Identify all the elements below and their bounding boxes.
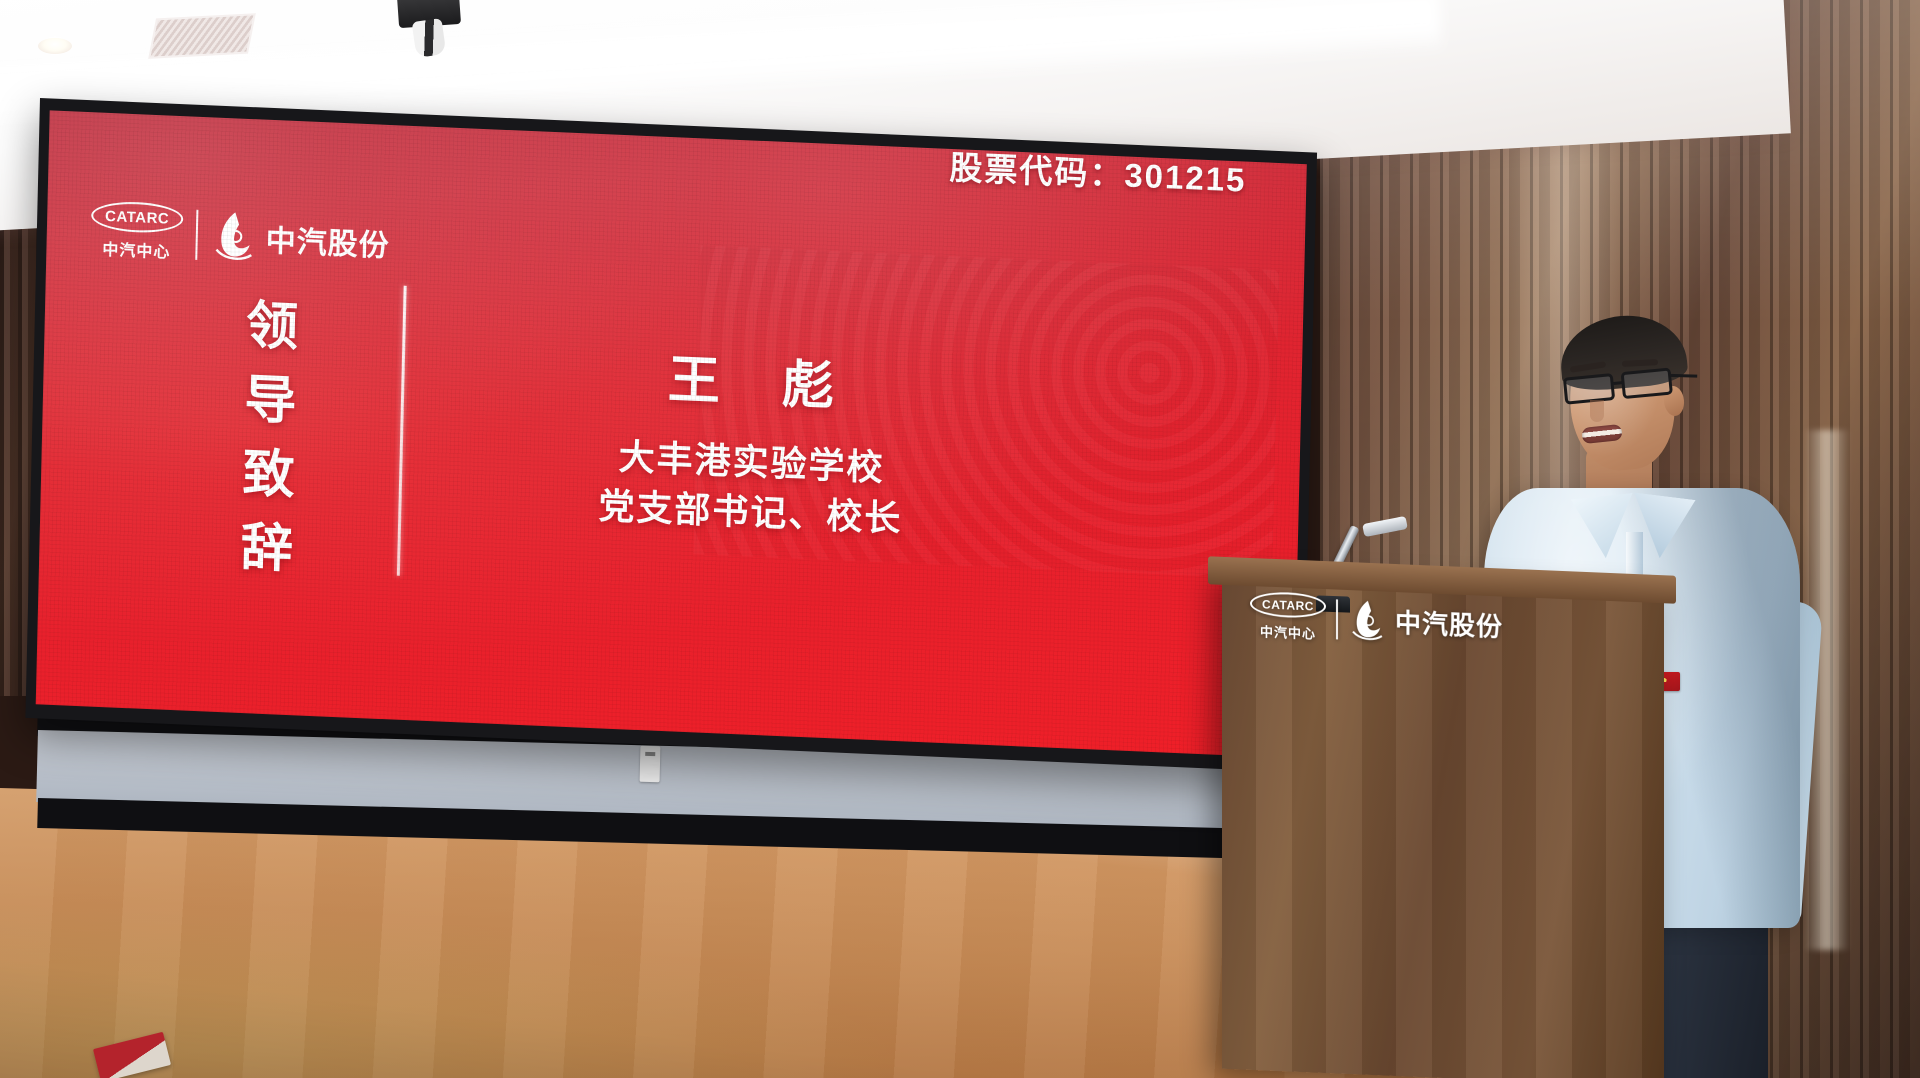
recessed-downlight (38, 38, 72, 54)
catarc-center-mark: CATARC 中汽中心 (90, 200, 183, 263)
screen-surface: 股票代码：301215 CATARC 中汽中心 中汽股份 (36, 110, 1307, 758)
photo-scene: 股票代码：301215 CATARC 中汽中心 中汽股份 (0, 0, 1920, 1078)
slide-brand-lockup: CATARC 中汽中心 中汽股份 (90, 200, 390, 272)
catarc-swoosh-icon (210, 209, 257, 263)
lens-right (1621, 367, 1673, 399)
catarc-wordmark-icon: CATARC (91, 200, 184, 234)
speaker-name: 王 彪 (473, 329, 1034, 428)
ceiling-camera-head (412, 18, 447, 58)
podium-company-name-label: 中汽股份 (1395, 603, 1503, 644)
slide-vertical-rule (397, 286, 407, 576)
podium-catarc-center-mark: CATARC 中汽中心 (1250, 591, 1326, 643)
podium-catarc-chinese-name: 中汽中心 (1260, 621, 1316, 642)
speaker-info-block: 王 彪 大丰港实验学校 党支部书记、校长 (470, 329, 1034, 549)
podium-brand-divider (1336, 599, 1338, 639)
air-vent (148, 13, 256, 59)
brand-divider (195, 209, 198, 259)
power-outlet (640, 746, 661, 782)
company-brand-mark: 中汽股份 (210, 209, 390, 269)
catarc-chinese-name: 中汽中心 (102, 236, 171, 263)
podium-catarc-wordmark-icon: CATARC (1250, 591, 1326, 619)
led-screen-wall: 股票代码：301215 CATARC 中汽中心 中汽股份 (25, 98, 1317, 772)
glasses-temple (1669, 374, 1697, 378)
person-nose (1590, 400, 1604, 422)
podium-catarc-swoosh-icon (1348, 597, 1386, 643)
podium-company-brand-mark: 中汽股份 (1348, 597, 1503, 647)
podium-brand-lockup: CATARC 中汽中心 中汽股份 (1250, 591, 1503, 650)
company-name-label: 中汽股份 (265, 215, 390, 264)
section-title: 领导致辞 (234, 297, 293, 595)
